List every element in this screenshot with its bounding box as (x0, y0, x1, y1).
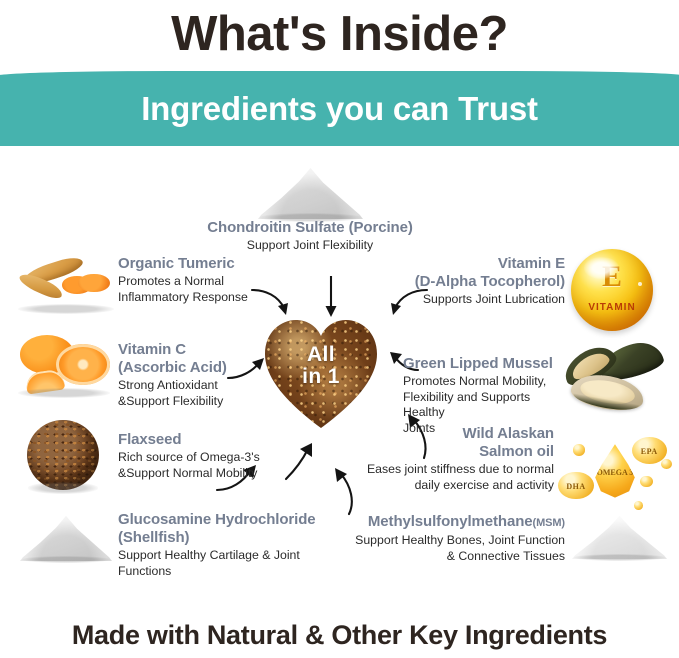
ingredient-desc-line1: Support Healthy Cartilage & Joint (118, 548, 343, 563)
page-title: What's Inside? (0, 4, 679, 64)
ingredient-desc: Supports Joint Lubrication (388, 292, 565, 307)
ingredient-desc-line2: &Support Normal Mobility (118, 466, 303, 481)
powder-shadow (574, 554, 665, 561)
ingredient-desc-line1: Rich source of Omega-3's (118, 450, 303, 465)
ingredient-flaxseed: Flaxseed Rich source of Omega-3's &Suppo… (118, 431, 303, 481)
ingredient-organic-tumeric: Organic Tumeric Promotes a Normal Inflam… (118, 255, 278, 305)
ingredient-desc-line2: Inflammatory Response (118, 290, 278, 305)
ingredient-desc-line2: Functions (118, 564, 343, 579)
ingredient-name-abbrev: (MSM) (533, 517, 566, 529)
orange-shadow (18, 388, 110, 398)
ingredient-name: Chondroitin Sulfate (Porcine) (181, 219, 439, 237)
ingredient-desc-line2: Flexibility and Supports Healthy (403, 390, 573, 420)
capsule-highlight-dot (638, 282, 642, 286)
ingredient-name-line2: Salmon oil (330, 443, 554, 461)
turmeric-slice-icon (78, 274, 110, 293)
epa-label: EPA (632, 447, 667, 456)
ingredient-name: Flaxseed (118, 431, 303, 449)
ingredient-name-line2: (Ascorbic Acid) (118, 359, 283, 377)
image-chondroitin-powder (258, 167, 363, 219)
image-orange (16, 333, 112, 395)
image-vitamin-e-capsule: E VITAMIN (571, 249, 653, 331)
ingredient-desc: Support Joint Flexibility (181, 238, 439, 253)
image-msm-powder (572, 515, 667, 559)
ingredient-desc-line2: &Support Flexibility (118, 394, 283, 409)
oil-droplet-small-3 (661, 459, 672, 469)
ingredient-desc-line1: Promotes a Normal (118, 274, 278, 289)
ingredient-name-line1: Glucosamine Hydrochloride (118, 511, 343, 529)
ingredient-desc-line1: Support Healthy Bones, Joint Function (330, 533, 565, 548)
ingredient-name-line2: (Shellfish) (118, 529, 343, 547)
white-powder-mound-icon (20, 515, 112, 561)
oil-droplet-small-1 (573, 444, 586, 456)
ingredient-name-main: Methylsulfonylmethane (368, 513, 533, 530)
oil-droplet-small-2 (640, 476, 653, 488)
dha-bubble-icon: DHA (558, 472, 593, 500)
orange-half-icon (56, 344, 110, 385)
powder-shadow (22, 556, 110, 563)
image-salmon-oil-omega: OMEGA 3 EPA DHA (556, 424, 674, 516)
white-powder-mound-icon (258, 167, 363, 219)
flaxseed-cluster-icon (27, 420, 99, 490)
infographic-root: What's Inside? Ingredients you can Trust… (0, 0, 679, 658)
ingredient-name-line1: Wild Alaskan (330, 425, 554, 443)
arrow-down-chondroitin (320, 275, 342, 321)
image-green-lipped-mussel (562, 344, 672, 416)
ingredient-chondroitin-sulfate: Chondroitin Sulfate (Porcine) Support Jo… (181, 219, 439, 253)
capsule-glare (584, 257, 618, 278)
omega-drop-label: OMEGA 3 (591, 468, 638, 477)
ingredient-name-line1: Vitamin E (388, 255, 565, 273)
ingredient-name-line1: Vitamin C (118, 341, 283, 359)
white-powder-mound-icon (572, 515, 667, 559)
ingredient-glucosamine-hydrochloride: Glucosamine Hydrochloride (Shellfish) Su… (118, 511, 343, 579)
ingredient-name: Methylsulfonylmethane(MSM) (330, 513, 565, 532)
ingredient-vitamin-e: Vitamin E (D-Alpha Tocopherol) Supports … (388, 255, 565, 307)
image-turmeric (16, 249, 116, 311)
vitamin-e-label: VITAMIN (571, 302, 653, 313)
ingredient-desc-line1: Strong Antioxidant (118, 378, 283, 393)
ingredient-vitamin-c: Vitamin C (Ascorbic Acid) Strong Antioxi… (118, 341, 283, 409)
ingredient-name: Organic Tumeric (118, 255, 278, 273)
image-glucosamine-powder (20, 515, 112, 561)
ingredient-green-lipped-mussel: Green Lipped Mussel Promotes Normal Mobi… (403, 355, 573, 436)
page-subtitle: Ingredients you can Trust (0, 86, 679, 132)
ingredient-name-line2: (D-Alpha Tocopherol) (388, 273, 565, 291)
ingredient-desc-line2: daily exercise and activity (330, 478, 554, 493)
ingredient-wild-alaskan-salmon-oil: Wild Alaskan Salmon oil Eases joint stif… (330, 425, 554, 493)
image-flaxseed (27, 420, 99, 490)
oil-droplet-small-4 (634, 501, 643, 510)
page-footer-title: Made with Natural & Other Key Ingredient… (0, 618, 679, 652)
turmeric-shadow (18, 304, 114, 314)
ingredient-desc-line2: & Connective Tissues (330, 549, 565, 564)
ingredient-desc-line1: Promotes Normal Mobility, (403, 374, 573, 389)
ingredient-desc-line1: Eases joint stiffness due to normal (330, 462, 554, 477)
ingredient-methylsulfonylmethane: Methylsulfonylmethane(MSM) Support Healt… (330, 513, 565, 564)
ingredient-name: Green Lipped Mussel (403, 355, 573, 373)
dha-label: DHA (558, 482, 593, 491)
flaxseed-shadow (28, 482, 97, 493)
